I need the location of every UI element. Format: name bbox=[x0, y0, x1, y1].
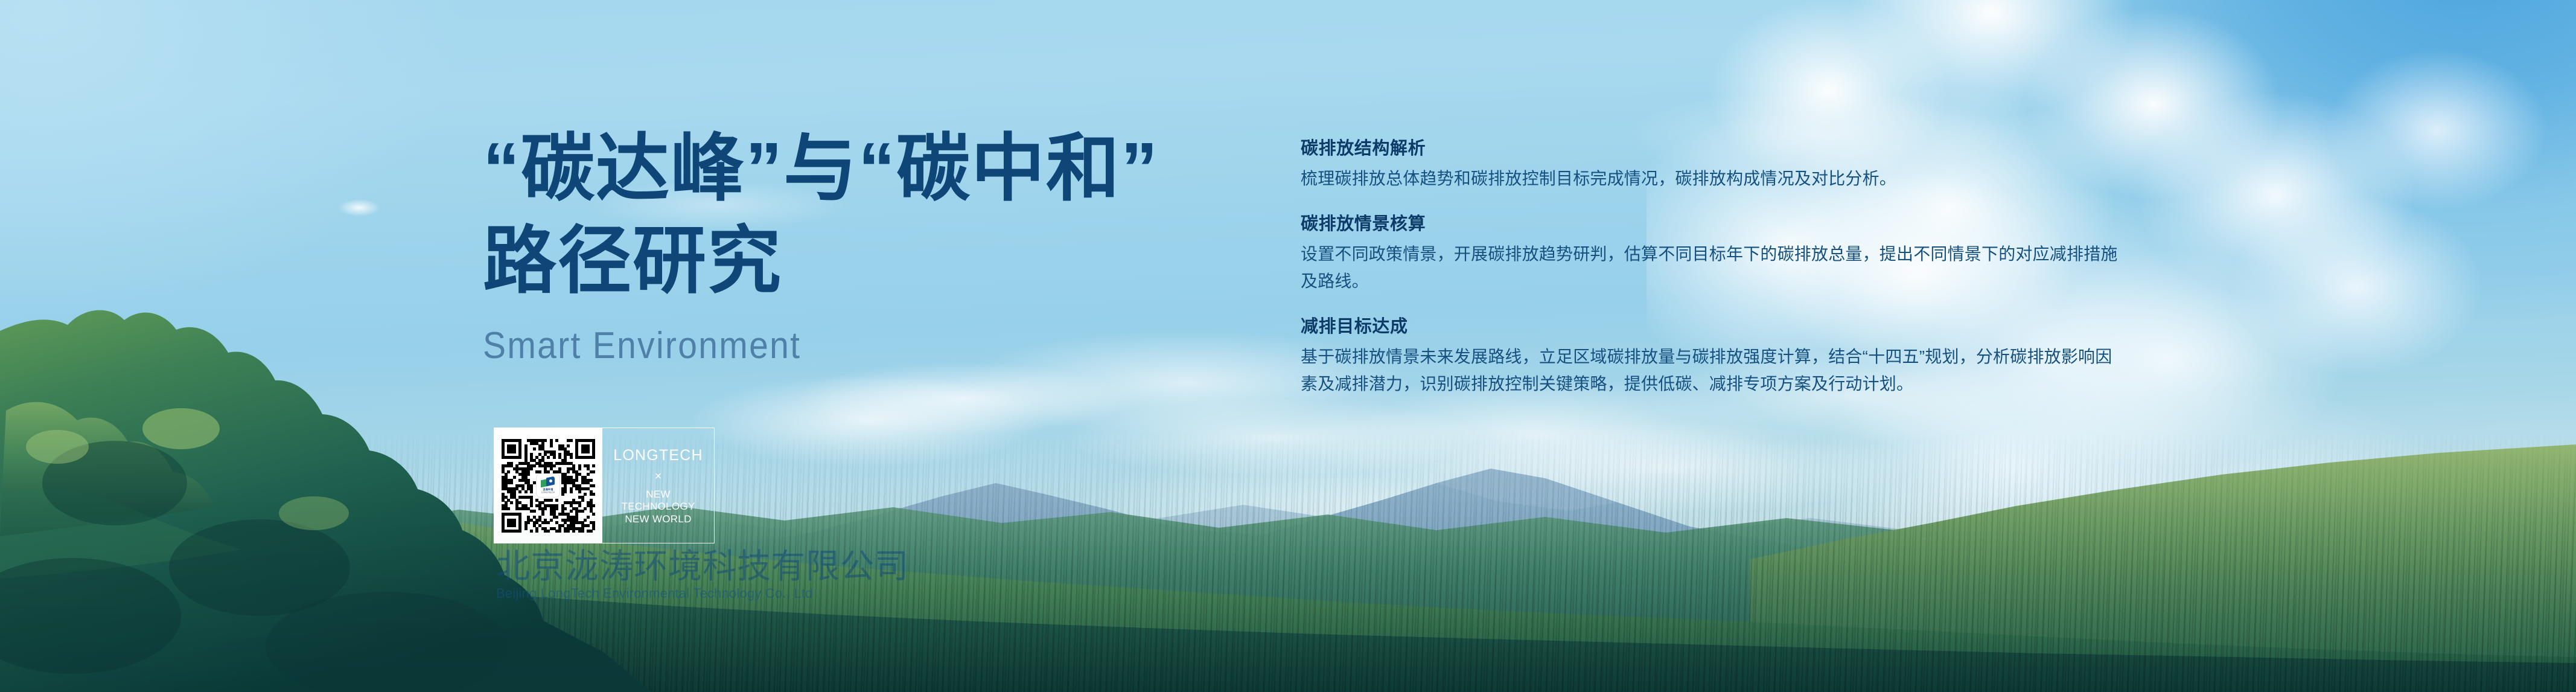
feature-body: 设置不同政策情景，开展碳排放趋势研判，估算不同目标年下的碳排放总量，提出不同情景… bbox=[1301, 240, 2128, 295]
feature-heading: 碳排放情景核算 bbox=[1301, 213, 2128, 235]
brand-name: LONGTECH bbox=[613, 448, 703, 463]
feature-section: 碳排放结构解析 梳理碳排放总体趋势和碳排放控制目标完成情况，碳排放构成情况及对比… bbox=[1301, 138, 2128, 193]
page-title-line-2: 路径研究 bbox=[483, 213, 1255, 309]
qr-code-icon[interactable]: 泷涛环境 LONGTECH bbox=[502, 439, 595, 533]
hero-title-block: “碳达峰”与“碳中和” 路径研究 Smart Environment bbox=[483, 121, 1255, 367]
logo-mark-shape bbox=[541, 477, 555, 487]
multiply-icon: × bbox=[655, 470, 662, 482]
brand-tagline-line-3: NEW WORLD bbox=[621, 513, 695, 525]
qr-brand-zone: 泷涛环境 LONGTECH LONGTECH × NEW TECHNOLOGY … bbox=[494, 428, 715, 543]
brand-slogan-panel: LONGTECH × NEW TECHNOLOGY NEW WORLD bbox=[602, 428, 715, 543]
feature-section: 减排目标达成 基于碳排放情景未来发展路线，立足区域碳排放量与碳排放强度计算，结合… bbox=[1301, 316, 2128, 398]
feature-section: 碳排放情景核算 设置不同政策情景，开展碳排放趋势研判，估算不同目标年下的碳排放总… bbox=[1301, 213, 2128, 295]
logo-wordmark-en: LONGTECH bbox=[541, 491, 555, 494]
feature-body: 基于碳排放情景未来发展路线，立足区域碳排放量与碳排放强度计算，结合“十四五”规划… bbox=[1301, 343, 2128, 398]
brand-tagline-line-2: TECHNOLOGY bbox=[621, 501, 695, 513]
brand-tagline: NEW TECHNOLOGY NEW WORLD bbox=[621, 489, 695, 525]
feature-body: 梳理碳排放总体趋势和碳排放控制目标完成情况，碳排放构成情况及对比分析。 bbox=[1301, 165, 2128, 192]
feature-heading: 减排目标达成 bbox=[1301, 316, 2128, 338]
cloud-small bbox=[338, 199, 380, 216]
qr-code-card[interactable]: 泷涛环境 LONGTECH bbox=[494, 428, 602, 543]
longtech-logo-icon: 泷涛环境 LONGTECH bbox=[536, 473, 560, 498]
logo-wordmark: 泷涛环境 LONGTECH bbox=[541, 489, 555, 494]
page-subtitle: Smart Environment bbox=[483, 324, 1194, 367]
hero-banner: “碳达峰”与“碳中和” 路径研究 Smart Environment 泷涛环境 … bbox=[0, 0, 2576, 692]
feature-heading: 碳排放结构解析 bbox=[1301, 138, 2128, 159]
feature-sections: 碳排放结构解析 梳理碳排放总体趋势和碳排放控制目标完成情况，碳排放构成情况及对比… bbox=[1301, 138, 2128, 398]
page-title-line-1: “碳达峰”与“碳中和” bbox=[483, 121, 1255, 217]
brand-tagline-line-1: NEW bbox=[621, 489, 695, 501]
